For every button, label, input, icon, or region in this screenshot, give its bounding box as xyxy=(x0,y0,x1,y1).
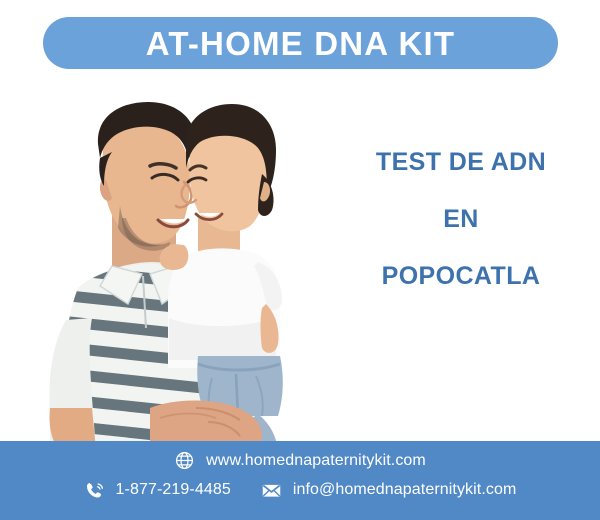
footer-row-website: www.homednapaternitykit.com xyxy=(0,441,600,472)
phone-label: 1-877-219-4485 xyxy=(116,482,231,498)
envelope-icon xyxy=(261,480,282,501)
header-banner: AT-HOME DNA KIT xyxy=(43,17,558,69)
footer-contact-bar: www.homednapaternitykit.com 1-877-219-44… xyxy=(0,441,600,520)
family-photo xyxy=(0,78,330,450)
headline-line-2: EN xyxy=(330,207,592,232)
globe-icon xyxy=(174,450,195,471)
poster-canvas: AT-HOME DNA KIT xyxy=(0,0,600,520)
website-contact[interactable]: www.homednapaternitykit.com xyxy=(174,450,426,471)
family-photo-illustration xyxy=(0,78,330,450)
headline-block: TEST DE ADN EN POPOCATLA xyxy=(330,150,592,289)
headline-line-3: POPOCATLA xyxy=(330,264,592,289)
footer-row-phone-email: 1-877-219-4485 info@homednapaternitykit.… xyxy=(0,472,600,506)
phone-contact[interactable]: 1-877-219-4485 xyxy=(84,480,231,501)
email-contact[interactable]: info@homednapaternitykit.com xyxy=(261,480,517,501)
headline-line-1: TEST DE ADN xyxy=(330,150,592,175)
email-label: info@homednapaternitykit.com xyxy=(293,482,517,498)
phone-icon xyxy=(84,480,105,501)
page-title: AT-HOME DNA KIT xyxy=(146,27,455,60)
website-label: www.homednapaternitykit.com xyxy=(206,453,426,469)
